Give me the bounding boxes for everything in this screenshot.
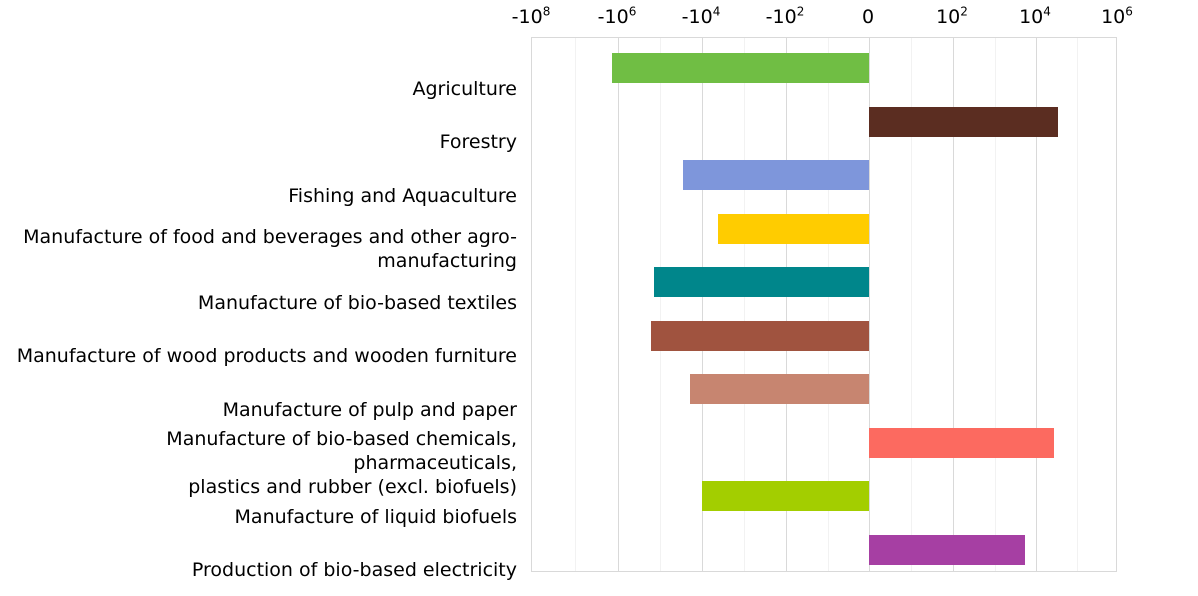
gridline-minor bbox=[1077, 38, 1078, 571]
category-label-text: Manufacture of pulp and paper bbox=[223, 398, 517, 422]
x-tick-label: -106 bbox=[598, 6, 637, 28]
category-label-line: Manufacture of wood products and wooden … bbox=[17, 344, 517, 368]
x-tick-label-base: 10 bbox=[1019, 6, 1043, 28]
bar-wood-products-wooden-furniture[interactable] bbox=[651, 321, 869, 351]
category-label-line: Production of bio-based electricity bbox=[192, 558, 517, 582]
category-label-agriculture: Agriculture bbox=[0, 67, 519, 111]
x-tick-label-base: -10 bbox=[766, 6, 797, 28]
x-tick-label-exponent: 6 bbox=[1125, 5, 1133, 19]
x-tick-label-exponent: 4 bbox=[1043, 5, 1051, 19]
category-label-line: Manufacture of bio-based chemicals, phar… bbox=[0, 427, 517, 475]
category-label-line: Fishing and Aquaculture bbox=[288, 184, 517, 208]
x-tick-label-base: -10 bbox=[512, 6, 543, 28]
x-tick-label-base: 10 bbox=[1101, 6, 1125, 28]
x-tick-label: -108 bbox=[512, 6, 551, 28]
bar-bio-based-electricity[interactable] bbox=[869, 535, 1025, 565]
category-label-line: Agriculture bbox=[413, 77, 518, 101]
category-label-text: Manufacture of liquid biofuels bbox=[235, 505, 517, 529]
category-label-text: Manufacture of bio-based chemicals, phar… bbox=[0, 427, 517, 499]
bar-pulp-and-paper[interactable] bbox=[690, 374, 869, 404]
y-axis-category-labels: AgricultureForestryFishing and Aquacultu… bbox=[0, 37, 519, 572]
x-tick-label-base: -10 bbox=[682, 6, 713, 28]
category-label-pulp-and-paper: Manufacture of pulp and paper bbox=[0, 388, 519, 432]
category-label-text: Manufacture of bio-based textiles bbox=[198, 291, 517, 315]
bar-fishing-and-aquaculture[interactable] bbox=[683, 160, 869, 190]
x-tick-label: -102 bbox=[766, 6, 805, 28]
gridline-minor bbox=[660, 38, 661, 571]
x-tick-label-base: 0 bbox=[862, 6, 874, 28]
category-label-line: Forestry bbox=[440, 130, 517, 154]
x-tick-label-exponent: 2 bbox=[960, 5, 968, 19]
x-tick-label: 106 bbox=[1101, 6, 1133, 28]
category-label-wood-products-wooden-furniture: Manufacture of wood products and wooden … bbox=[0, 334, 519, 378]
x-axis-tick-labels: -108-106-104-1020102104106 bbox=[0, 0, 1198, 37]
category-label-fishing-and-aquaculture: Fishing and Aquaculture bbox=[0, 174, 519, 218]
x-tick-label-exponent: 6 bbox=[629, 5, 637, 19]
bar-food-beverages-agro-manufacturing[interactable] bbox=[718, 214, 869, 244]
chart-container: -108-106-104-1020102104106 AgricultureFo… bbox=[0, 0, 1198, 596]
category-label-line: Manufacture of pulp and paper bbox=[223, 398, 517, 422]
gridline bbox=[618, 38, 619, 571]
bar-bio-based-textiles[interactable] bbox=[654, 267, 869, 297]
bar-agriculture[interactable] bbox=[612, 53, 869, 83]
category-label-text: Manufacture of wood products and wooden … bbox=[17, 344, 517, 368]
x-tick-label: 102 bbox=[936, 6, 968, 28]
category-label-bio-based-electricity: Production of bio-based electricity bbox=[0, 548, 519, 592]
category-label-line: Manufacture of food and beverages and ot… bbox=[23, 225, 517, 249]
category-label-bio-based-chemicals: Manufacture of bio-based chemicals, phar… bbox=[0, 429, 519, 497]
category-label-text: Production of bio-based electricity bbox=[192, 558, 517, 582]
category-label-text: Manufacture of food and beverages and ot… bbox=[23, 225, 517, 273]
category-label-line: Manufacture of bio-based textiles bbox=[198, 291, 517, 315]
bar-bio-based-chemicals[interactable] bbox=[869, 428, 1054, 458]
x-tick-label-base: -10 bbox=[598, 6, 629, 28]
category-label-text: Fishing and Aquaculture bbox=[288, 184, 517, 208]
x-tick-label: 0 bbox=[862, 6, 874, 28]
bar-liquid-biofuels[interactable] bbox=[702, 481, 869, 511]
x-tick-label: 104 bbox=[1019, 6, 1051, 28]
x-tick-label-exponent: 4 bbox=[713, 5, 721, 19]
category-label-text: Agriculture bbox=[413, 77, 518, 101]
category-label-liquid-biofuels: Manufacture of liquid biofuels bbox=[0, 495, 519, 539]
x-tick-label-base: 10 bbox=[936, 6, 960, 28]
category-label-line: manufacturing bbox=[23, 249, 517, 273]
category-label-bio-based-textiles: Manufacture of bio-based textiles bbox=[0, 281, 519, 325]
category-label-text: Forestry bbox=[440, 130, 517, 154]
gridline-minor bbox=[575, 38, 576, 571]
plot-area bbox=[531, 37, 1117, 572]
x-tick-label: -104 bbox=[682, 6, 721, 28]
category-label-line: Manufacture of liquid biofuels bbox=[235, 505, 517, 529]
bar-forestry[interactable] bbox=[869, 107, 1058, 137]
x-tick-label-exponent: 8 bbox=[543, 5, 551, 19]
category-label-forestry: Forestry bbox=[0, 120, 519, 164]
x-tick-label-exponent: 2 bbox=[797, 5, 805, 19]
category-label-food-beverages-agro-manufacturing: Manufacture of food and beverages and ot… bbox=[0, 215, 519, 283]
